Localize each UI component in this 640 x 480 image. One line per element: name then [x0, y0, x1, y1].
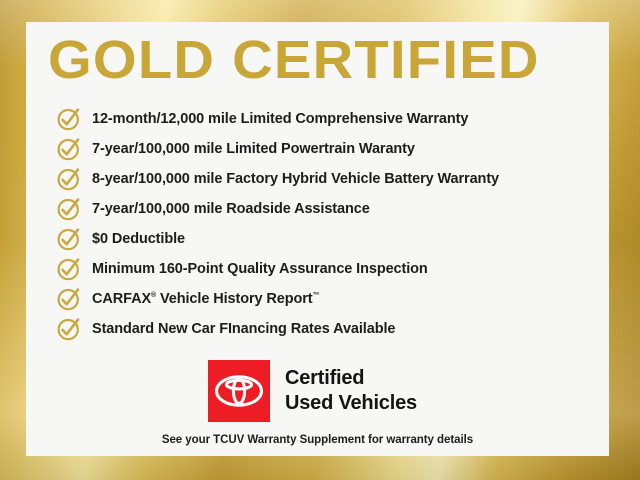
list-item-label: 7-year/100,000 mile Limited Powertrain W… — [92, 141, 415, 157]
list-item: $0 Deductible — [56, 224, 601, 254]
check-circle-icon — [56, 106, 82, 132]
lockup-line-1: Certified — [285, 366, 417, 391]
list-item: CARFAX® Vehicle History Report™ — [56, 284, 601, 314]
list-item-label: 7-year/100,000 mile Roadside Assistance — [92, 201, 370, 217]
list-item-label: CARFAX® Vehicle History Report™ — [92, 291, 319, 307]
lockup-line-2: Used Vehicles — [285, 391, 417, 416]
list-item-label: $0 Deductible — [92, 231, 185, 247]
list-item: 7-year/100,000 mile Limited Powertrain W… — [56, 134, 601, 164]
check-circle-icon — [56, 166, 82, 192]
list-item: 8-year/100,000 mile Factory Hybrid Vehic… — [56, 164, 601, 194]
check-circle-icon — [56, 136, 82, 162]
list-item-label: 8-year/100,000 mile Factory Hybrid Vehic… — [92, 171, 499, 187]
benefits-list: 12-month/12,000 mile Limited Comprehensi… — [56, 104, 601, 344]
check-circle-icon — [56, 196, 82, 222]
list-item-label: Minimum 160-Point Quality Assurance Insp… — [92, 261, 428, 277]
list-item: Minimum 160-Point Quality Assurance Insp… — [56, 254, 601, 284]
banner-card: GOLD CERTIFIED 12-month/12,000 mile Limi… — [26, 22, 609, 456]
list-item-label: Standard New Car FInancing Rates Availab… — [92, 321, 395, 337]
page-title: GOLD CERTIFIED — [48, 29, 609, 91]
gold-certified-banner: GOLD CERTIFIED 12-month/12,000 mile Limi… — [0, 0, 640, 480]
list-item: Standard New Car FInancing Rates Availab… — [56, 314, 601, 344]
check-circle-icon — [56, 226, 82, 252]
trademark-mark: ™ — [313, 292, 320, 299]
toyota-certified-used-vehicles-lockup: Certified Used Vehicles — [208, 360, 417, 422]
check-circle-icon — [56, 316, 82, 342]
check-circle-icon — [56, 286, 82, 312]
disclaimer-text: See your TCUV Warranty Supplement for wa… — [26, 434, 609, 446]
toyota-emblem-icon — [208, 360, 270, 422]
list-item-label: 12-month/12,000 mile Limited Comprehensi… — [92, 111, 468, 127]
lockup-text: Certified Used Vehicles — [285, 366, 417, 416]
check-circle-icon — [56, 256, 82, 282]
list-item: 7-year/100,000 mile Roadside Assistance — [56, 194, 601, 224]
list-item: 12-month/12,000 mile Limited Comprehensi… — [56, 104, 601, 134]
